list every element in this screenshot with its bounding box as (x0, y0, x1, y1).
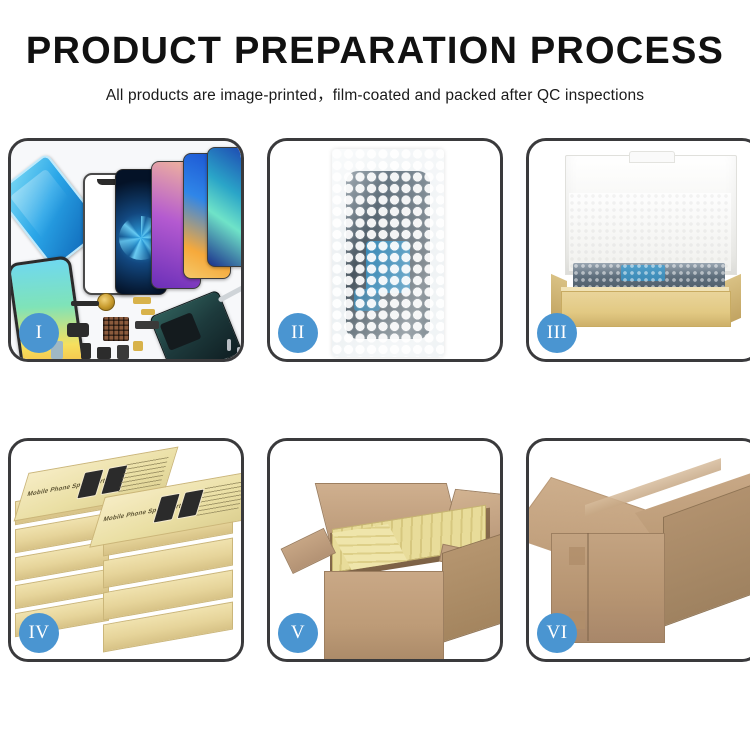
sealed-carton-tab-top (569, 547, 585, 565)
process-step-grid: I II III (8, 138, 742, 662)
step-panel-5[interactable]: V (267, 438, 503, 662)
phone-screen-teal-image (207, 147, 241, 267)
step-badge-3: III (537, 313, 577, 353)
chip-array-part (103, 317, 129, 341)
connector-part-a (81, 343, 91, 359)
carton-right-side (442, 534, 500, 643)
gold-contact-part (133, 341, 143, 351)
step-panel-1[interactable]: I (8, 138, 244, 362)
step-panel-3[interactable]: III (526, 138, 750, 362)
page-title: PRODUCT PREPARATION PROCESS (0, 32, 750, 70)
page-subtitle: All products are image-printed，film-coat… (0, 83, 750, 105)
step-badge-2: II (278, 313, 318, 353)
speaker-part (97, 347, 111, 359)
inner-box-foam-liner (569, 193, 731, 271)
step-badge-4: IV (19, 613, 59, 653)
inner-box-front-wall (561, 291, 731, 327)
flex-cable-part-d (135, 321, 159, 329)
bubble-wrap-package (332, 149, 444, 357)
sealed-carton-seam (587, 533, 589, 641)
flex-cable-part-b (133, 297, 151, 304)
screw-part-a (227, 339, 231, 351)
step-badge-1: I (19, 313, 59, 353)
step-panel-4[interactable]: Mobile Phone Spare Parts Mobile Phone Sp… (8, 438, 244, 662)
carton-front-face (324, 571, 444, 659)
page-header: PRODUCT PREPARATION PROCESS All products… (0, 0, 750, 105)
step-panel-6[interactable]: VI (526, 438, 750, 662)
camera-module-part (67, 323, 89, 337)
flex-cable-part-c (141, 309, 155, 315)
step-panel-2[interactable]: II (267, 138, 503, 362)
retail-box-spec-lines-front (196, 479, 241, 516)
step-badge-6: VI (537, 613, 577, 653)
screw-part-b (237, 347, 241, 359)
connector-part-b (117, 345, 129, 359)
flex-cable-part-a (71, 301, 99, 306)
step-badge-5: V (278, 613, 318, 653)
copper-coil-part (97, 293, 115, 311)
plastic-sheen-overlay (332, 149, 444, 357)
